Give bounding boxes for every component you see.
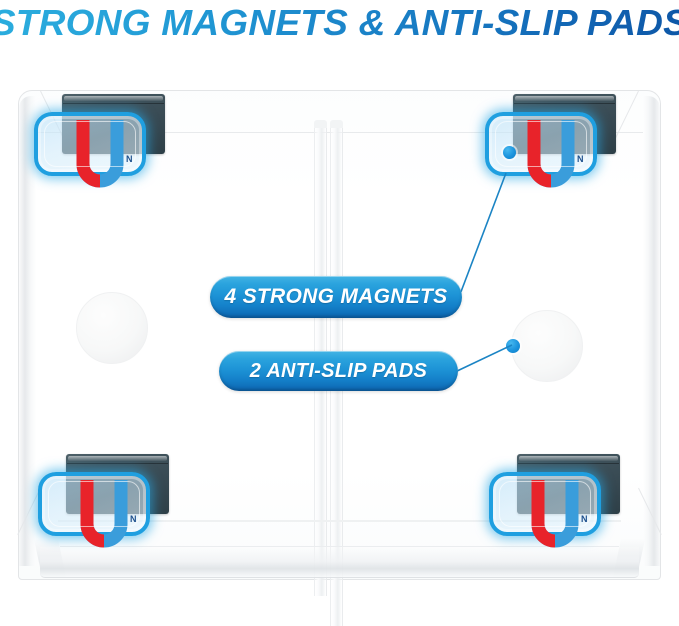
horseshoe-magnet-icon <box>74 120 126 194</box>
magnet-pole-label: N <box>581 514 588 524</box>
headline-banner: STRONG MAGNETS & ANTI-SLIP PADS <box>0 0 679 52</box>
horseshoe-magnet-icon <box>525 120 577 194</box>
callout-label-pads: 2 ANTI-SLIP PADS <box>250 360 427 383</box>
callout-badge-pads[interactable]: 2 ANTI-SLIP PADS <box>219 351 458 391</box>
organizer-right-wall <box>643 96 660 566</box>
anti-slip-pad-right <box>511 310 583 382</box>
connector-dot-icon <box>503 146 516 159</box>
magnet-glow-frame: N <box>485 112 597 176</box>
magnet-pole-label: N <box>126 154 133 164</box>
horseshoe-magnet-icon <box>78 480 130 554</box>
magnet-glow-frame: N <box>489 472 601 536</box>
callout-label-magnets: 4 STRONG MAGNETS <box>225 285 448 309</box>
anti-slip-pad-left <box>76 292 148 364</box>
magnet-bottom-left: N <box>38 454 174 536</box>
magnet-top-right: N <box>485 94 621 176</box>
magnet-glow-frame: N <box>34 112 146 176</box>
magnet-pole-label: N <box>577 154 584 164</box>
magnet-pole-label: N <box>130 514 137 524</box>
product-scene: N N N <box>0 52 679 615</box>
divider-cap <box>330 120 343 128</box>
callout-badge-magnets[interactable]: 4 STRONG MAGNETS <box>210 276 462 318</box>
magnet-bottom-right: N <box>489 454 625 536</box>
page-title: STRONG MAGNETS & ANTI-SLIP PADS <box>0 0 679 43</box>
connector-dot-icon <box>506 339 520 353</box>
horseshoe-magnet-icon <box>529 480 581 554</box>
divider-cap <box>314 120 327 128</box>
magnet-top-left: N <box>34 94 170 176</box>
magnet-glow-frame: N <box>38 472 150 536</box>
